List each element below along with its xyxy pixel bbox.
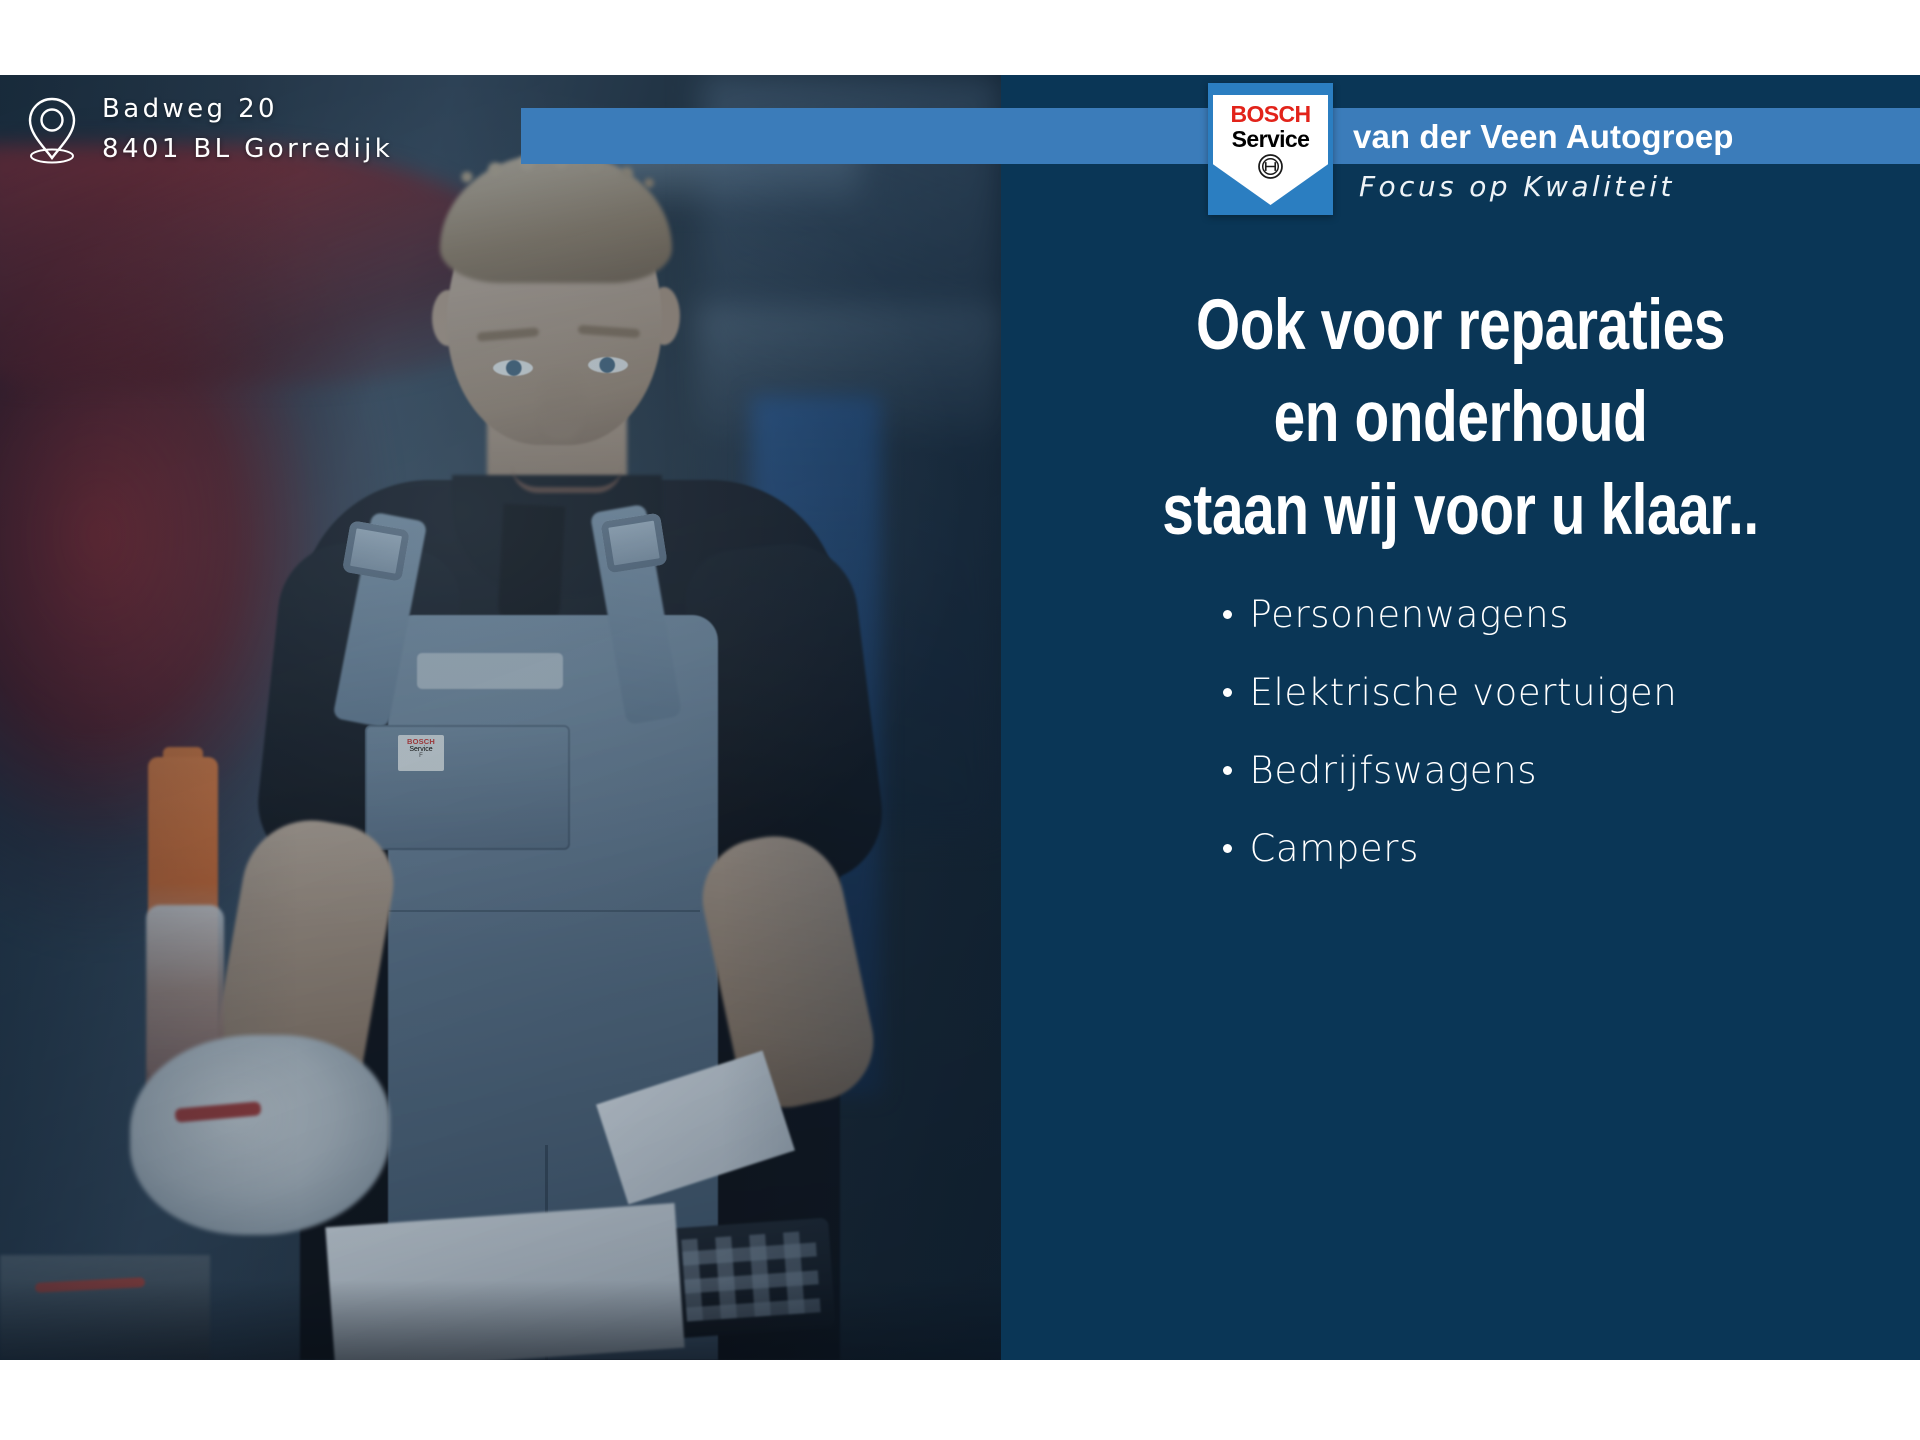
list-item: Personenwagens [1001,575,1920,653]
services-list: Personenwagens Elektrische voertuigen Be… [1001,575,1920,887]
list-item: Bedrijfswagens [1001,731,1920,809]
headline-line-1: Ook voor reparaties [1093,280,1828,372]
service-label: Elektrische voertuigen [1250,674,1678,711]
address-line-2: 8401 BL Gorredijk [102,130,393,170]
headline-line-2: en onderhoud [1093,372,1828,464]
headline: Ook voor reparaties en onderhoud staan w… [1093,280,1828,557]
address-overlay: Badweg 20 8401 BL Gorredijk [26,90,393,169]
headline-line-3: staan wij voor u klaar.. [1093,465,1828,557]
address-line-1: Badweg 20 [102,90,393,130]
tagline: Focus op Kwaliteit [1359,170,1675,203]
info-panel: BOSCH Service van der Veen Autogroep Foc… [1001,75,1920,1360]
brand-block: BOSCH Service van der Veen Autogroep Foc… [1001,75,1920,235]
company-name: van der Veen Autogroep [1353,111,1734,163]
list-item: Campers [1001,809,1920,887]
bullet-dot-icon [1223,766,1232,775]
service-label: Campers [1250,830,1420,867]
bullet-dot-icon [1223,610,1232,619]
mechanic-photo: BOSCH Service F [0,75,1001,1360]
service-label: Personenwagens [1250,596,1570,633]
location-pin-icon [26,96,78,164]
bosch-wordmark: BOSCH [1230,103,1310,126]
photo-vignette [0,75,1001,1360]
address-text: Badweg 20 8401 BL Gorredijk [102,90,393,169]
bullet-dot-icon [1223,844,1232,853]
bosch-service-logo: BOSCH Service [1208,83,1333,215]
advertisement-banner: BOSCH Service F [0,75,1920,1360]
list-item: Elektrische voertuigen [1001,653,1920,731]
bosch-armature-icon [1257,153,1284,180]
service-wordmark: Service [1232,127,1310,152]
bullet-dot-icon [1223,688,1232,697]
bosch-shield: BOSCH Service [1213,95,1328,205]
service-label: Bedrijfswagens [1250,752,1538,789]
